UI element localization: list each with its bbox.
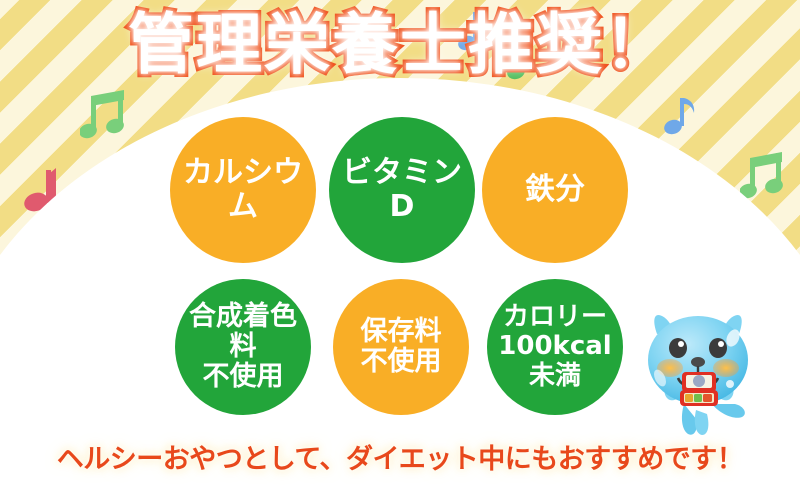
music-note-blue-right xyxy=(660,95,700,139)
badge-calcium: カルシウム xyxy=(170,117,316,263)
cat-mascot-with-bento xyxy=(638,300,764,438)
tagline-text: ヘルシーおやつとして、ダイエット中にもおすすめです！ xyxy=(57,437,744,476)
badge-no-artificial-coloring-label: 合成着色料 不使用 xyxy=(175,302,311,393)
badge-no-preservatives-label: 保存料 不使用 xyxy=(357,317,446,377)
badge-calorie-label: カロリー 100kcal 未満 xyxy=(494,303,615,390)
page-title-text: 管理栄養士推奨！ xyxy=(128,8,672,82)
tagline: ヘルシーおやつとして、ダイエット中にもおすすめです！ xyxy=(0,437,800,476)
page-title: 管理栄養士推奨！ xyxy=(0,8,800,82)
badge-iron: 鉄分 xyxy=(482,117,628,263)
music-note-green-left xyxy=(80,88,132,142)
badge-calorie-under-100kcal: カロリー 100kcal 未満 xyxy=(487,279,623,415)
badge-calcium-label: カルシウム xyxy=(170,156,316,223)
banner-root: 管理栄養士推奨！ カルシウム ビタミンD 鉄分 合成着色料 不使用 保存料 不使… xyxy=(0,0,800,495)
badge-no-preservatives: 保存料 不使用 xyxy=(333,279,469,415)
badge-no-artificial-coloring: 合成着色料 不使用 xyxy=(175,279,311,415)
music-note-green-right xyxy=(740,148,790,200)
badge-iron-label: 鉄分 xyxy=(521,173,589,207)
badge-vitamin-d: ビタミンD xyxy=(329,117,475,263)
badge-vitamin-d-label: ビタミンD xyxy=(329,156,475,223)
